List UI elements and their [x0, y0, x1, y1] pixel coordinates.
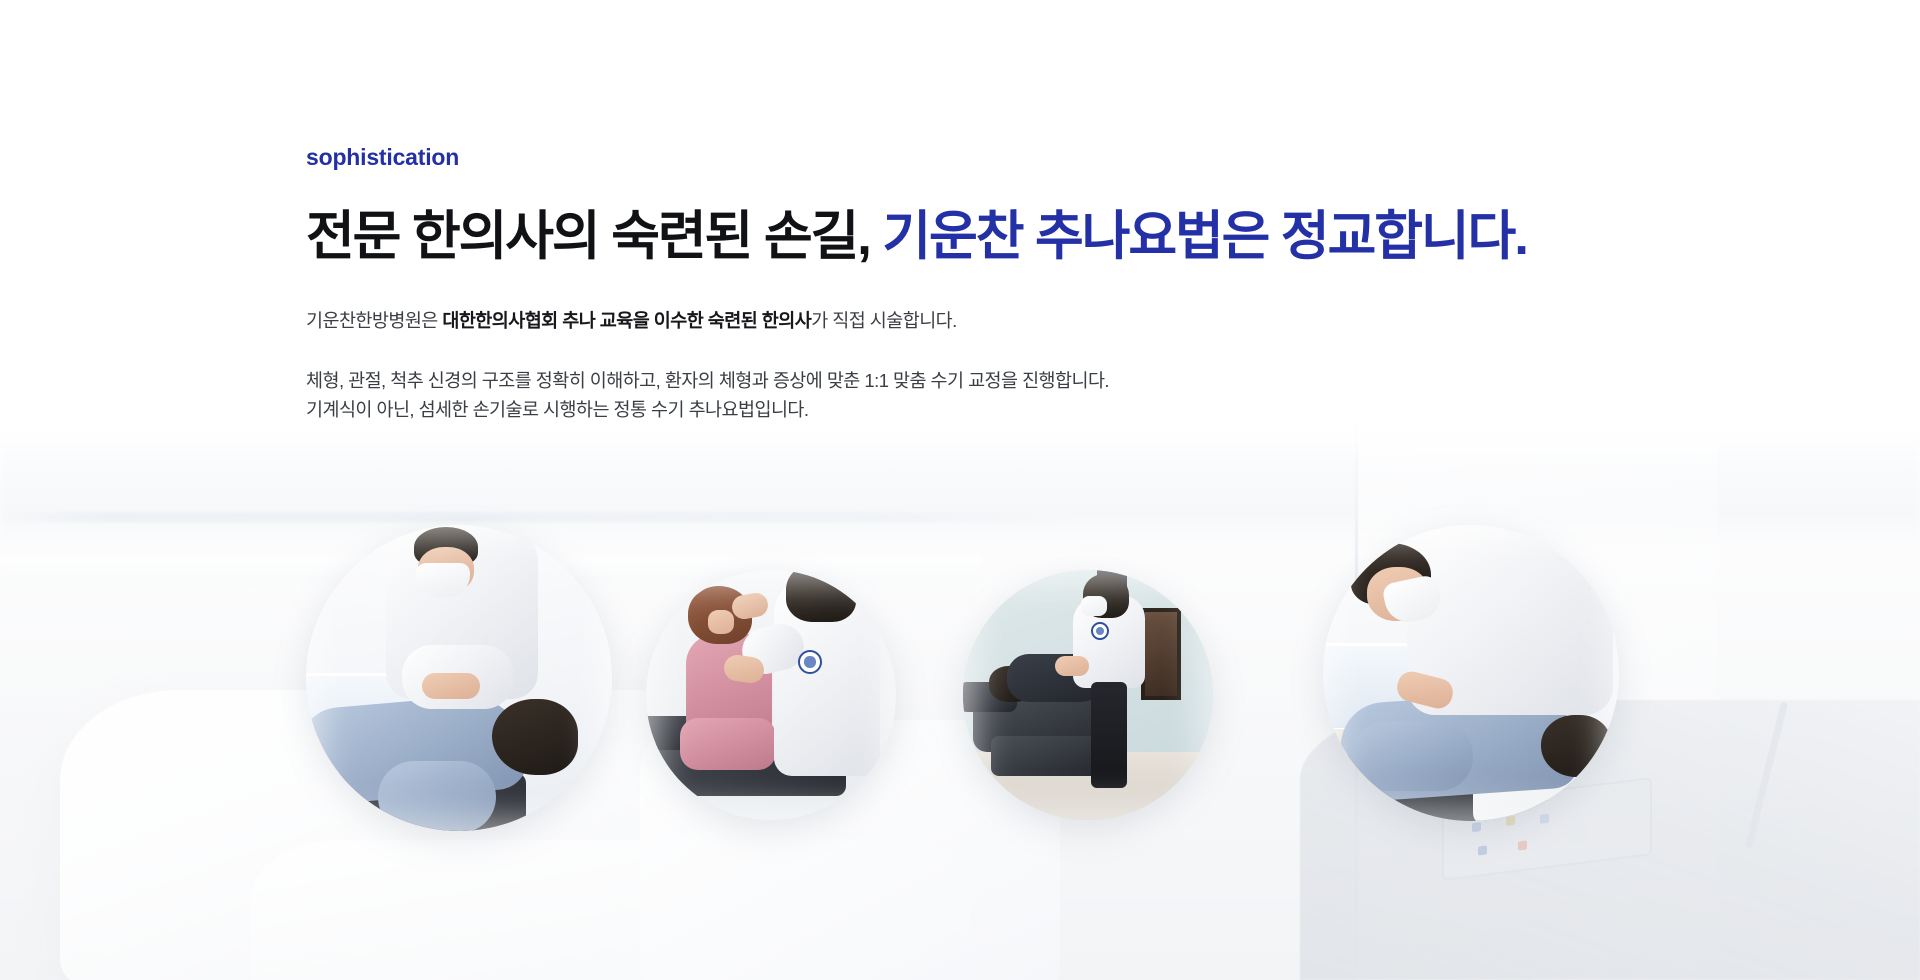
hero-paragraphs: 기운찬한방병원은 대한한의사협회 추나 교육을 이수한 숙련된 한의사가 직접 … [306, 306, 1706, 426]
paragraph-1: 기운찬한방병원은 대한한의사협회 추나 교육을 이수한 숙련된 한의사가 직접 … [306, 306, 1706, 336]
chuna-hero-section: sophistication 전문 한의사의 숙련된 손길, 기운찬 추나요법은… [0, 0, 1920, 980]
headline-plain-part: 전문 한의사의 숙련된 손길, [306, 207, 882, 266]
headline-accent-part: 기운찬 추나요법은 정교합니다. [882, 207, 1526, 266]
paragraph-1-suffix: 가 직접 시술합니다. [811, 310, 957, 331]
paragraph-2-line-2: 기계식이 아닌, 섬세한 손기술로 시행하는 정통 수기 추나요법입니다. [306, 395, 1706, 425]
gallery-photo-2[interactable] [646, 570, 896, 820]
gallery-photo-4[interactable] [1323, 525, 1619, 821]
gallery-photo-3[interactable] [963, 570, 1213, 820]
paragraph-2-line-1: 체형, 관절, 척추 신경의 구조를 정확히 이해하고, 환자의 체형과 증상에… [306, 366, 1706, 396]
paragraph-1-emphasis: 대한한의사협회 추나 교육을 이수한 숙련된 한의사 [442, 310, 811, 331]
hero-text-block: sophistication 전문 한의사의 숙련된 손길, 기운찬 추나요법은… [306, 0, 1706, 425]
gallery-photo-1[interactable] [306, 525, 612, 831]
paragraph-spacer [306, 336, 1706, 366]
eyebrow-label: sophistication [306, 146, 1706, 169]
paragraph-1-prefix: 기운찬한방병원은 [306, 310, 442, 331]
page-title: 전문 한의사의 숙련된 손길, 기운찬 추나요법은 정교합니다. [306, 206, 1706, 269]
